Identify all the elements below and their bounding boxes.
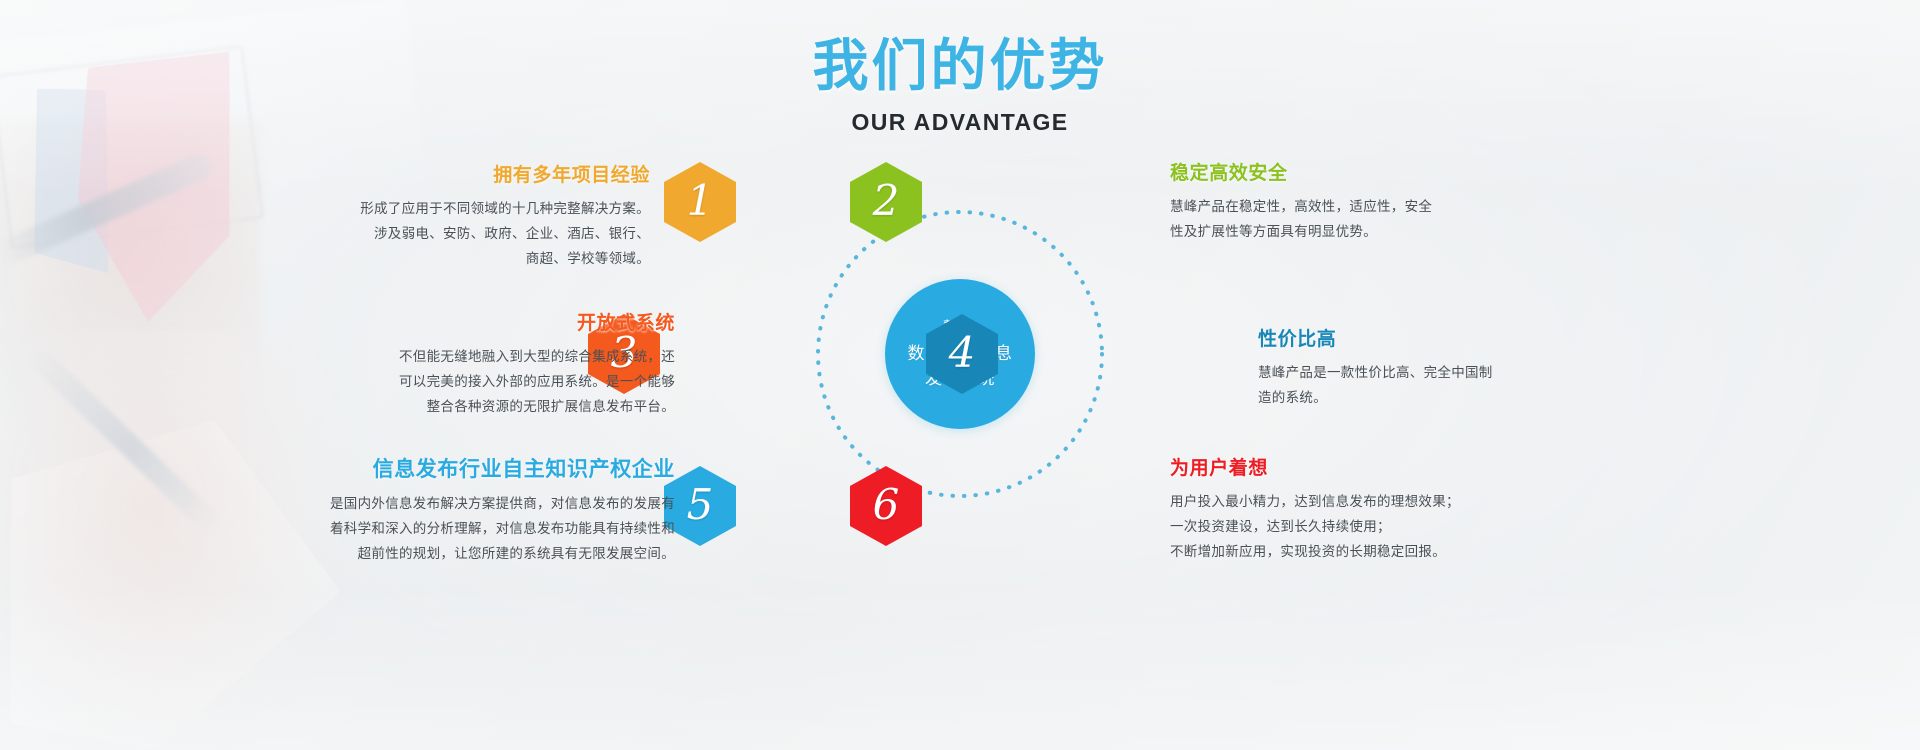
advantage-body-6: 用户投入最小精力，达到信息发布的理想效果；一次投资建设，达到长久持续使用；不断增… bbox=[1170, 490, 1460, 565]
advantage-title-6: 为用户着想 bbox=[1170, 455, 1460, 481]
advantage-body-line: 一次投资建设，达到长久持续使用； bbox=[1170, 515, 1460, 540]
advantage-body-line: 用户投入最小精力，达到信息发布的理想效果； bbox=[1170, 490, 1460, 515]
hexagon-number-2: 2 bbox=[873, 180, 900, 222]
advantage-title-4: 性价比高 bbox=[1258, 326, 1493, 352]
advantage-body-line: 慧峰产品是一款性价比高、完全中国制 bbox=[1258, 361, 1493, 386]
background-right-pen bbox=[27, 346, 222, 535]
advantage-body-line: 超前性的规划，让您所建的系统具有无限发展空间。 bbox=[330, 542, 675, 567]
advantage-title-3: 开放式系统 bbox=[399, 310, 675, 336]
advantage-block-6: 为用户着想 用户投入最小精力，达到信息发布的理想效果；一次投资建设，达到长久持续… bbox=[1170, 455, 1460, 565]
advantage-block-4: 性价比高 慧峰产品是一款性价比高、完全中国制造的系统。 bbox=[1258, 326, 1493, 411]
advantage-body-line: 着科学和深入的分析理解，对信息发布功能具有持续性和 bbox=[330, 517, 675, 542]
advantage-body-line: 形成了应用于不同领域的十几种完整解决方案。 bbox=[360, 197, 650, 222]
advantage-title-5: 信息发布行业自主知识产权企业 bbox=[330, 455, 675, 483]
page-title: 我们的优势 OUR ADVANTAGE bbox=[0, 34, 1920, 136]
advantage-body-1: 形成了应用于不同领域的十几种完整解决方案。涉及弱电、安防、政府、企业、酒店、银行… bbox=[360, 197, 650, 272]
advantage-block-2: 稳定高效安全 慧峰产品在稳定性，高效性，适应性，安全性及扩展性等方面具有明显优势… bbox=[1170, 160, 1432, 245]
page-title-chinese: 我们的优势 bbox=[0, 34, 1920, 100]
advantage-body-line: 整合各种资源的无限扩展信息发布平台。 bbox=[399, 395, 675, 420]
hexagon-number-6: 6 bbox=[873, 484, 900, 526]
advantage-body-line: 造的系统。 bbox=[1258, 386, 1493, 411]
background-left-paper bbox=[10, 420, 340, 750]
page-title-english: OUR ADVANTAGE bbox=[0, 108, 1920, 136]
advantage-infographic: 我们的优势 OUR ADVANTAGE 慧峰 数字媒体信息 发布系统 1 2 3… bbox=[0, 0, 1920, 750]
advantage-body-line: 不但能无缝地融入到大型的综合集成系统，还 bbox=[399, 345, 675, 370]
advantage-block-5: 信息发布行业自主知识产权企业 是国内外信息发布解决方案提供商，对信息发布的发展有… bbox=[330, 455, 675, 567]
hexagon-number-5: 5 bbox=[687, 484, 714, 526]
background-right-hand bbox=[0, 330, 340, 750]
advantage-title-2: 稳定高效安全 bbox=[1170, 160, 1432, 186]
advantage-body-line: 慧峰产品在稳定性，高效性，适应性，安全 bbox=[1170, 195, 1432, 220]
advantage-title-1: 拥有多年项目经验 bbox=[360, 162, 650, 188]
background-left-pen bbox=[0, 150, 215, 267]
advantage-body-line: 性及扩展性等方面具有明显优势。 bbox=[1170, 220, 1432, 245]
advantage-body-2: 慧峰产品在稳定性，高效性，适应性，安全性及扩展性等方面具有明显优势。 bbox=[1170, 195, 1432, 245]
advantage-body-line: 涉及弱电、安防、政府、企业、酒店、银行、 bbox=[360, 222, 650, 247]
advantage-block-1: 拥有多年项目经验 形成了应用于不同领域的十几种完整解决方案。涉及弱电、安防、政府… bbox=[360, 162, 650, 272]
hexagon-number-4: 4 bbox=[949, 332, 976, 374]
advantage-body-line: 是国内外信息发布解决方案提供商，对信息发布的发展有 bbox=[330, 492, 675, 517]
advantage-body-line: 不断增加新应用，实现投资的长期稳定回报。 bbox=[1170, 540, 1460, 565]
advantage-body-line: 商超、学校等领域。 bbox=[360, 247, 650, 272]
advantage-block-3: 开放式系统 不但能无缝地融入到大型的综合集成系统，还可以完美的接入外部的应用系统… bbox=[399, 310, 675, 420]
hexagon-number-1: 1 bbox=[687, 180, 714, 222]
advantage-body-line: 可以完美的接入外部的应用系统。是一个能够 bbox=[399, 370, 675, 395]
background-left-hand bbox=[0, 120, 260, 450]
advantage-body-5: 是国内外信息发布解决方案提供商，对信息发布的发展有着科学和深入的分析理解，对信息… bbox=[330, 492, 675, 567]
advantage-body-4: 慧峰产品是一款性价比高、完全中国制造的系统。 bbox=[1258, 361, 1493, 411]
advantage-body-3: 不但能无缝地融入到大型的综合集成系统，还可以完美的接入外部的应用系统。是一个能够… bbox=[399, 345, 675, 420]
